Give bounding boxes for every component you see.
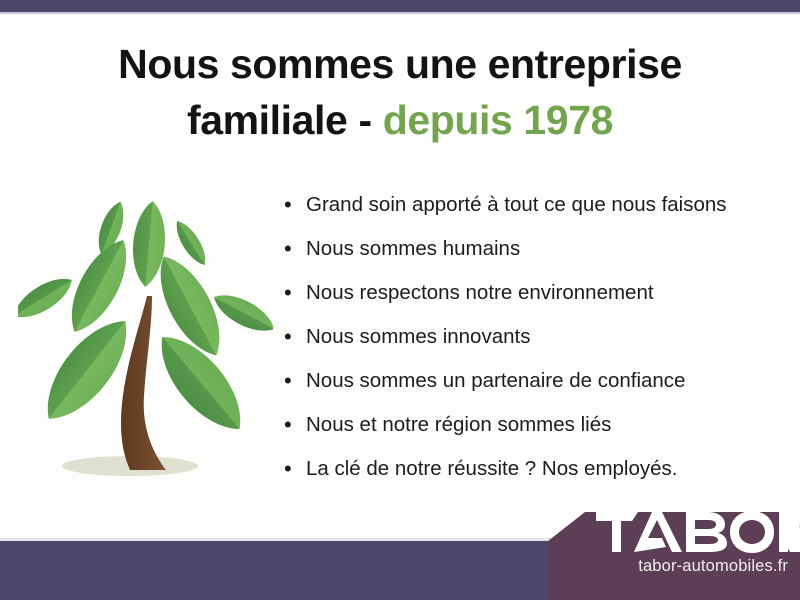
title-line-2-main: familiale -	[187, 97, 383, 143]
list-item-label: Grand soin apporté à tout ce que nous fa…	[306, 190, 727, 220]
bullet-marker-icon: •	[284, 234, 306, 264]
page-title: Nous sommes une entreprise familiale - d…	[0, 36, 800, 148]
list-item-label: La clé de notre réussite ? Nos employés.	[306, 454, 677, 484]
bullet-marker-icon: •	[284, 278, 306, 308]
logo-url[interactable]: tabor-automobiles.fr	[540, 557, 788, 576]
top-band	[0, 0, 800, 12]
bullet-marker-icon: •	[284, 190, 306, 220]
title-line-2: familiale - depuis 1978	[0, 92, 800, 148]
value-list: • Grand soin apporté à tout ce que nous …	[284, 190, 784, 498]
list-item-label: Nous sommes humains	[306, 234, 520, 264]
slide-canvas: Nous sommes une entreprise familiale - d…	[0, 0, 800, 600]
bullet-marker-icon: •	[284, 366, 306, 396]
top-band-hairline	[0, 12, 800, 14]
title-line-2-accent: depuis 1978	[383, 97, 613, 143]
bullet-marker-icon: •	[284, 410, 306, 440]
list-item: • Nous sommes humains	[284, 234, 784, 278]
logo-wordmark	[596, 511, 800, 553]
tree-illustration	[18, 178, 273, 493]
list-item: • La clé de notre réussite ? Nos employé…	[284, 454, 784, 498]
list-item-label: Nous sommes innovants	[306, 322, 530, 352]
tree-svg	[18, 178, 273, 493]
leaf-top-small-right	[170, 217, 212, 270]
tree-trunk	[121, 296, 166, 470]
bullet-marker-icon: •	[284, 454, 306, 484]
leaf-far-left	[18, 270, 78, 326]
leaf-upper-left	[58, 231, 140, 340]
list-item-label: Nous et notre région sommes liés	[306, 410, 611, 440]
brand-logo[interactable]: tabor-automobiles.fr	[540, 505, 800, 600]
title-line-1: Nous sommes une entreprise	[0, 36, 800, 92]
list-item: • Nous respectons notre environnement	[284, 278, 784, 322]
list-item: • Nous sommes un partenaire de confiance	[284, 366, 784, 410]
list-item: • Nous sommes innovants	[284, 322, 784, 366]
list-item-label: Nous respectons notre environnement	[306, 278, 654, 308]
list-item: • Grand soin apporté à tout ce que nous …	[284, 190, 784, 234]
list-item-label: Nous sommes un partenaire de confiance	[306, 366, 685, 396]
bullet-marker-icon: •	[284, 322, 306, 352]
list-item: • Nous et notre région sommes liés	[284, 410, 784, 454]
